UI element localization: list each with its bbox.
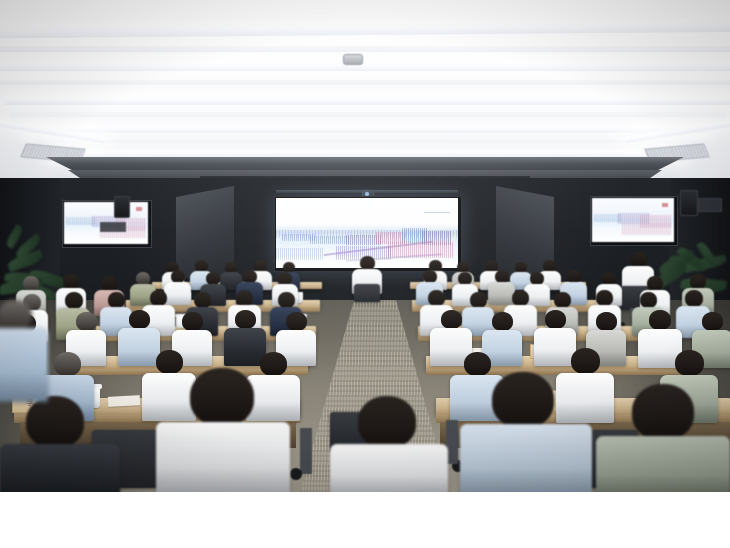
wall-speaker-right xyxy=(680,190,698,216)
conference-room-photo: 张建华 xyxy=(0,0,730,492)
letterbox-bottom xyxy=(0,492,730,548)
chair-caster xyxy=(290,468,302,480)
screen-building-cluster xyxy=(310,236,350,244)
attendee-foreground xyxy=(460,372,592,492)
wall-plate xyxy=(698,198,722,212)
ceiling-light-strip xyxy=(4,96,730,105)
ceiling-light-strip xyxy=(26,125,708,133)
ceiling-light-strip xyxy=(10,112,726,117)
smoke-detector-icon xyxy=(343,54,363,65)
ceiling-light-strip xyxy=(48,150,684,157)
chair-base xyxy=(300,428,312,474)
wall-plate xyxy=(100,222,126,232)
attendee-foreground xyxy=(0,300,48,400)
side-screen-logo-icon xyxy=(662,203,668,207)
side-screen-logo-icon xyxy=(136,207,142,211)
screenshot-root: 张建华 xyxy=(0,0,730,548)
attendee-foreground xyxy=(0,396,120,492)
attendee-foreground xyxy=(596,384,730,492)
ceiling-light-strip xyxy=(34,139,698,143)
ceiling-light-strip xyxy=(0,80,730,85)
wall-speaker-left xyxy=(114,196,130,218)
chair xyxy=(354,284,380,302)
screen-caption-underline xyxy=(424,212,450,213)
ceiling-light-strip xyxy=(0,46,730,52)
attendee-foreground xyxy=(156,368,290,492)
attendee-foreground xyxy=(330,396,448,492)
ceiling-light-strip xyxy=(0,62,730,71)
